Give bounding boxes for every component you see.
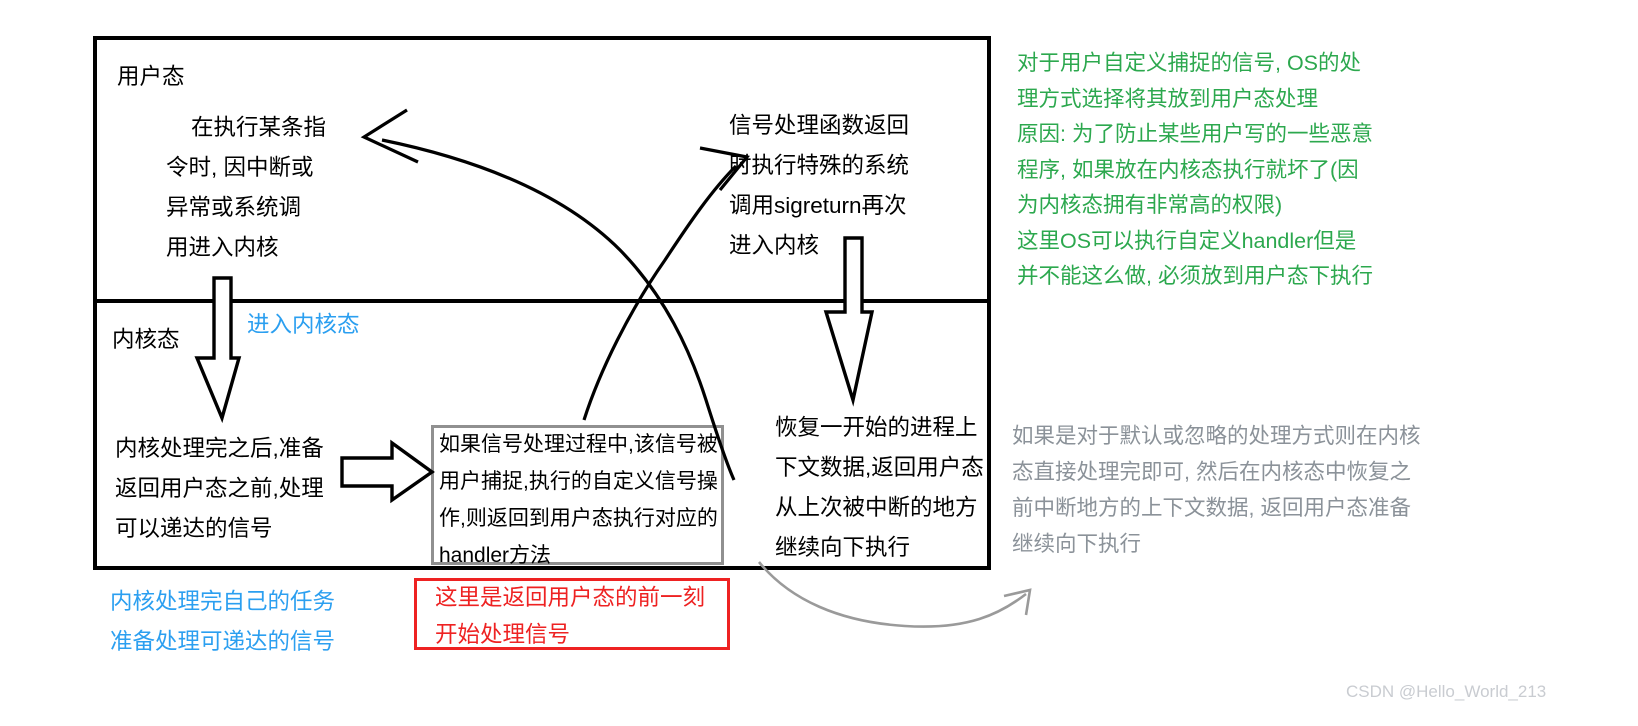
kernel-done-annotation: 内核处理完自己的任务 准备处理可递达的信号 [110, 582, 335, 662]
red-highlight-text: 这里是返回用户态的前一刻 开始处理信号 [435, 579, 705, 653]
kernel-pending-signal-description: 内核处理完之后,准备 返回用户态之前,处理 可以递达的信号 [115, 429, 324, 549]
handler-callout-text: 如果信号处理过程中,该信号被 用户捕捉,执行的自定义信号操 作,则返回到用户态执… [439, 426, 718, 574]
user-mode-label: 用户态 [117, 62, 185, 92]
sigreturn-description: 信号处理函数返回 时执行特殊的系统 调用sigreturn再次 进入内核 [729, 106, 909, 266]
gray-curved-arrow-icon [759, 562, 1030, 627]
user-kernel-divider [93, 299, 991, 303]
user-entry-description: 在执行某条指 令时, 因中断或 异常或系统调 用进入内核 [166, 108, 326, 268]
diagram-canvas: 用户态 内核态 在执行某条指 令时, 因中断或 异常或系统调 用进入内核 信号处… [0, 0, 1638, 726]
gray-explanation-note: 如果是对于默认或忽略的处理方式则在内核 态直接处理完即可, 然后在内核态中恢复之… [1012, 418, 1421, 562]
green-explanation-note: 对于用户自定义捕捉的信号, OS的处 理方式选择将其放到用户态处理 原因: 为了… [1017, 46, 1373, 295]
csdn-watermark: CSDN @Hello_World_213 [1346, 682, 1546, 702]
enter-kernel-annotation: 进入内核态 [247, 305, 360, 345]
red-highlight-box: 这里是返回用户态的前一刻 开始处理信号 [414, 578, 730, 650]
handler-callout-box: 如果信号处理过程中,该信号被 用户捕捉,执行的自定义信号操 作,则返回到用户态执… [431, 425, 724, 565]
restore-context-description: 恢复一开始的进程上 下文数据,返回用户态 从上次被中断的地方 继续向下执行 [775, 408, 984, 568]
kernel-mode-label: 内核态 [112, 325, 180, 355]
